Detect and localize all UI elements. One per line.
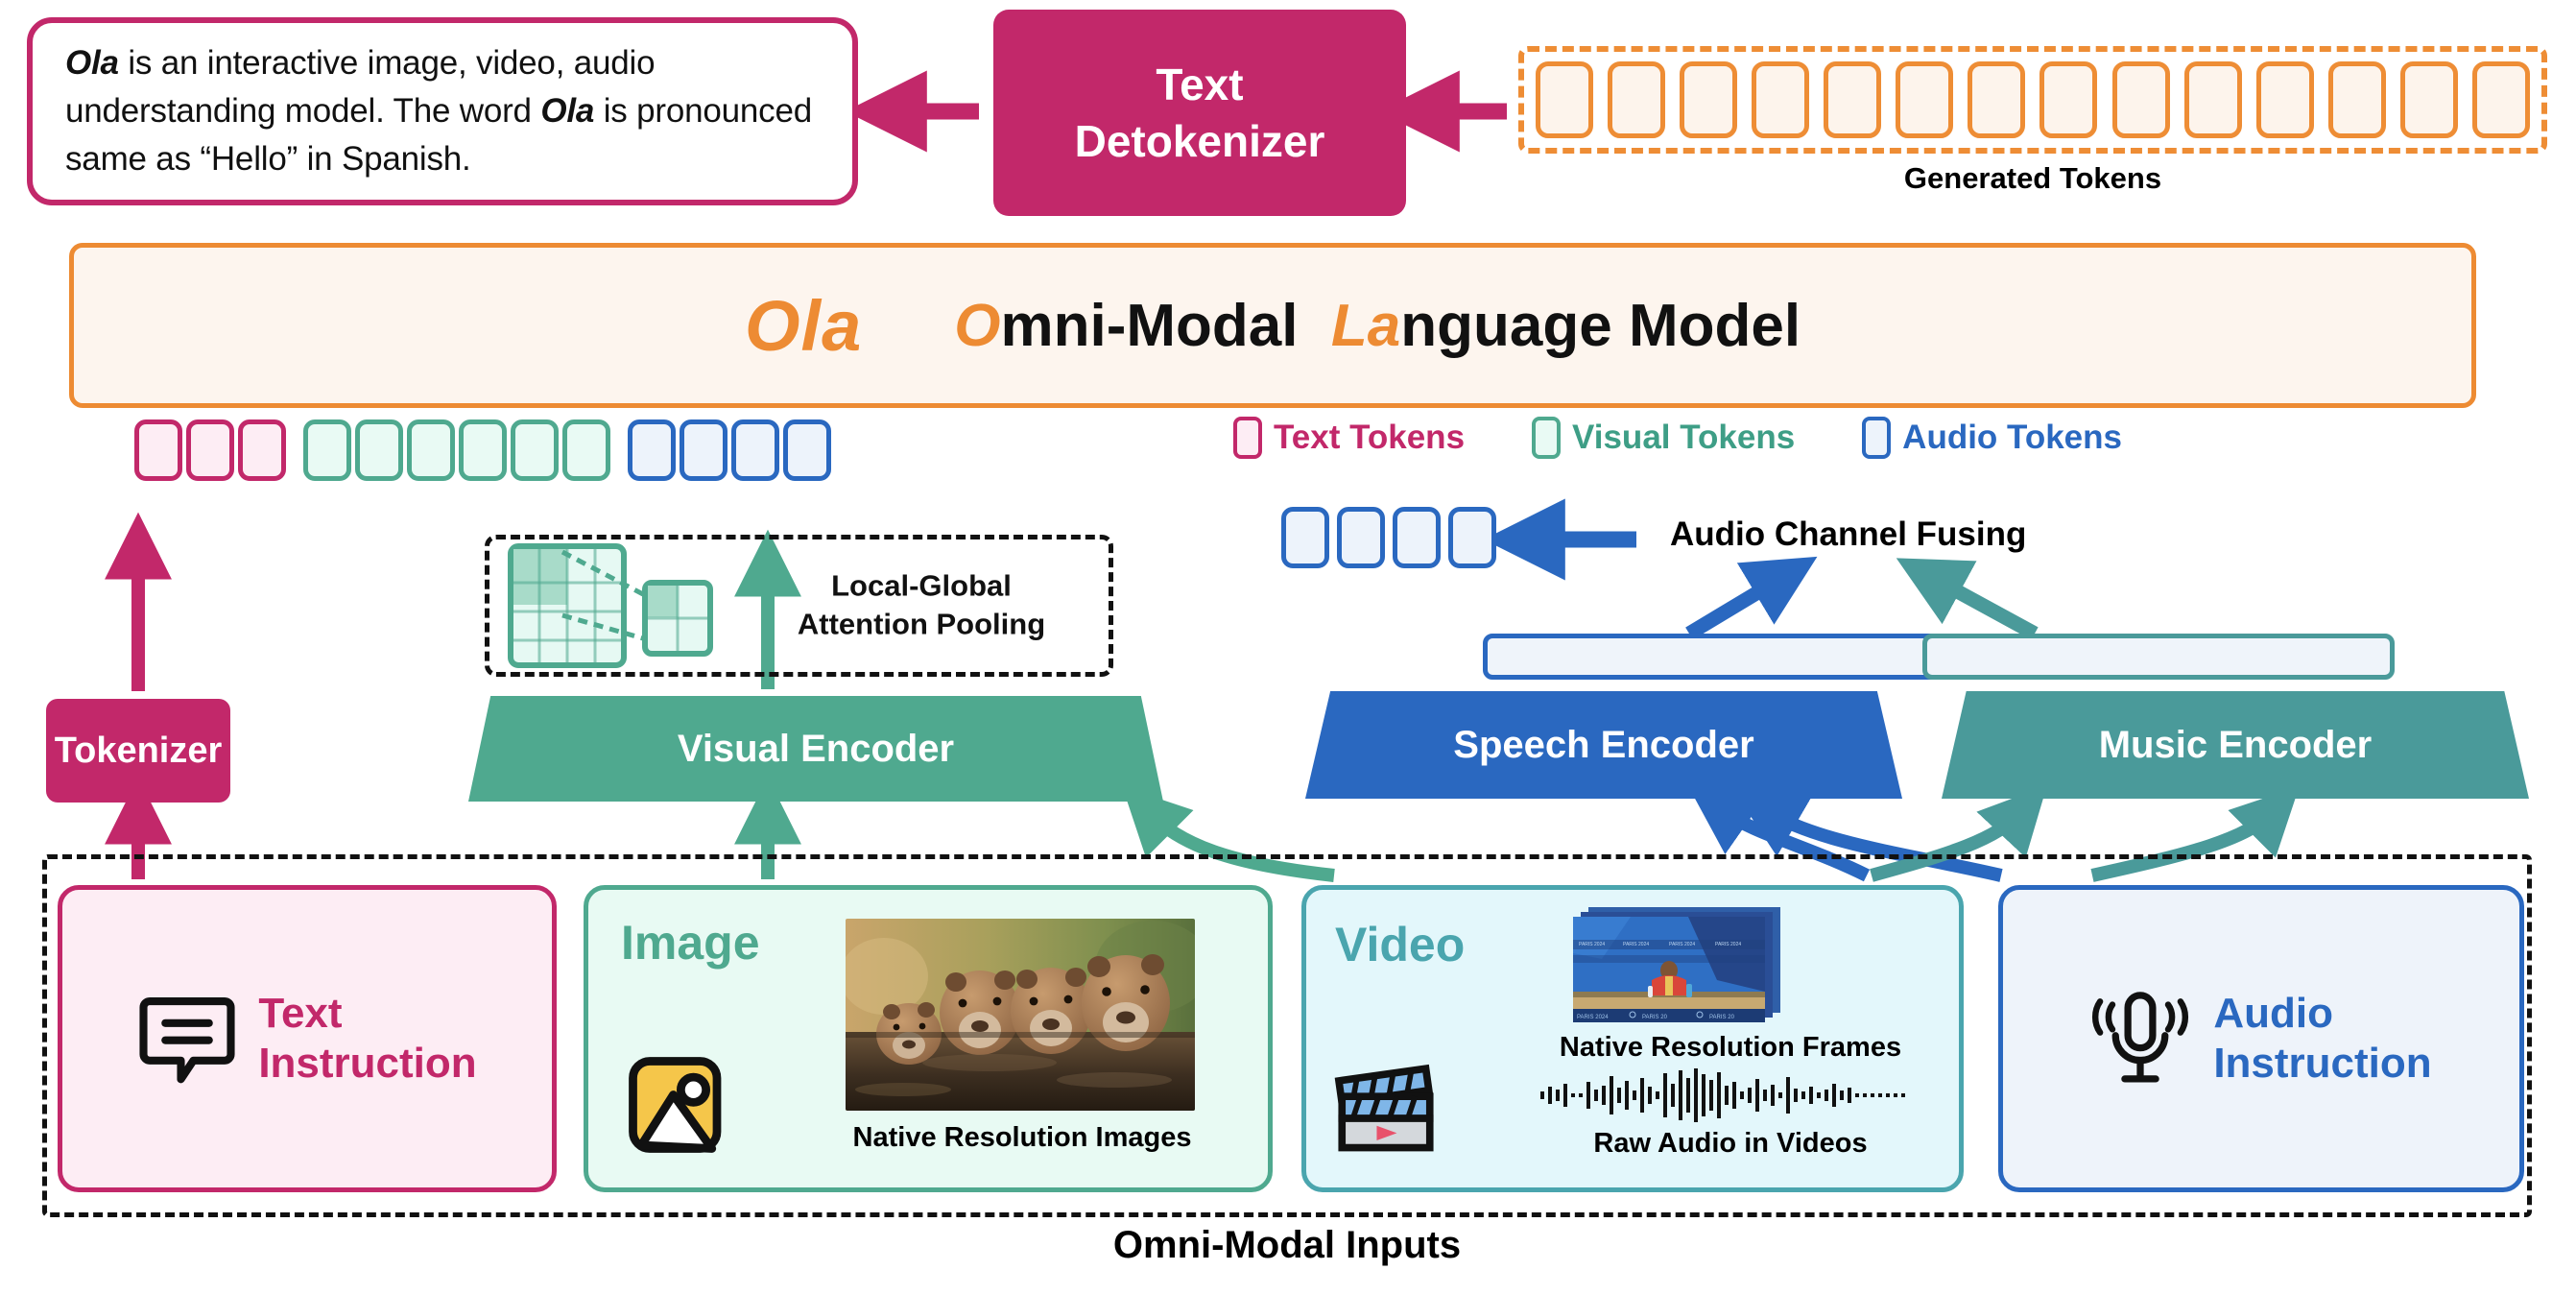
- fused-audio-token: [1393, 507, 1441, 568]
- visual-token: [562, 419, 610, 481]
- fused-audio-tokens-group: [1281, 507, 1500, 568]
- audio-token: [783, 419, 831, 481]
- audio-token: [628, 419, 676, 481]
- banner-la-rest: nguage Model: [1400, 293, 1801, 359]
- text-instruction-line2: Instruction: [258, 1039, 476, 1089]
- audio-waveform-icon: [1538, 1068, 1922, 1122]
- video-frames-caption: Native Resolution Frames: [1519, 1032, 1942, 1064]
- audio-channel-fusing-label: Audio Channel Fusing: [1670, 515, 2026, 554]
- visual-token: [407, 419, 455, 481]
- video-input-card[interactable]: Video: [1301, 885, 1964, 1192]
- audio-token: [731, 419, 779, 481]
- visual-token: [511, 419, 559, 481]
- generated-token: [1536, 61, 1593, 138]
- chat-bubble-icon: [137, 989, 237, 1089]
- video-audio-caption: Raw Audio in Videos: [1519, 1128, 1942, 1160]
- answer-line2-b: is: [594, 92, 627, 130]
- generated-token: [2472, 61, 2530, 138]
- audio-token-swatch-icon: [1862, 417, 1891, 459]
- local-global-attention-pooling-box: Local-Global Attention Pooling: [485, 535, 1113, 677]
- attention-pooling-grid-icon: [503, 539, 781, 673]
- visual-token: [459, 419, 507, 481]
- music-encoder-block: Music Encoder: [1942, 691, 2529, 799]
- svg-text:PARIS 2024: PARIS 2024: [1577, 1015, 1609, 1020]
- text-instruction-card[interactable]: Text Instruction: [58, 885, 557, 1192]
- visual-token: [355, 419, 403, 481]
- legend-item-text-tokens: Text Tokens: [1233, 417, 1465, 459]
- fused-audio-token: [1281, 507, 1329, 568]
- generated-token: [2256, 61, 2314, 138]
- generated-token: [1608, 61, 1665, 138]
- input-token-strip: [134, 419, 835, 481]
- svg-text:PARIS 2024: PARIS 2024: [1669, 942, 1695, 947]
- video-card-title: Video: [1335, 917, 1465, 972]
- generated-token: [1752, 61, 1809, 138]
- generated-token: [2112, 61, 2170, 138]
- attention-pooling-line2: Attention Pooling: [777, 606, 1065, 644]
- speech-encoder-block: Speech Encoder: [1305, 691, 1902, 799]
- visual-token-swatch-icon: [1532, 417, 1561, 459]
- banner-la-highlight: La: [1331, 293, 1400, 359]
- generated-token: [1824, 61, 1881, 138]
- audio-instruction-caption: Audio Instruction: [2213, 989, 2431, 1089]
- audio-instruction-card[interactable]: Audio Instruction: [1998, 885, 2524, 1192]
- image-card-title: Image: [621, 915, 760, 970]
- svg-text:PARIS 2024: PARIS 2024: [1579, 942, 1605, 947]
- capybara-photo: [846, 919, 1195, 1111]
- generated-token: [2184, 61, 2242, 138]
- generated-token: [1680, 61, 1737, 138]
- image-card-caption: Native Resolution Images: [830, 1122, 1214, 1154]
- ola-model-banner: Ola Omni-Modal Language Model: [69, 243, 2476, 408]
- text-token: [186, 419, 234, 481]
- clapperboard-icon: [1327, 1042, 1444, 1159]
- token-group-gap: [290, 450, 303, 451]
- omni-modal-inputs-label: Omni-Modal Inputs: [42, 1224, 2532, 1267]
- audio-instruction-line1: Audio: [2213, 989, 2431, 1039]
- picture-icon: [623, 1051, 730, 1159]
- token-legend: Text Tokens Visual Tokens Audio Tokens: [1233, 417, 2122, 459]
- microphone-icon: [2090, 983, 2190, 1094]
- audio-token: [680, 419, 727, 481]
- generated-token: [2328, 61, 2386, 138]
- visual-encoder-block: Visual Encoder: [468, 696, 1163, 802]
- image-input-card[interactable]: Image: [584, 885, 1273, 1192]
- text-token-swatch-icon: [1233, 417, 1262, 459]
- audio-instruction-line2: Instruction: [2213, 1039, 2431, 1089]
- fused-audio-token: [1448, 507, 1496, 568]
- banner-omni-rest: mni-Modal: [1000, 293, 1298, 359]
- legend-label-text: Text Tokens: [1274, 419, 1465, 457]
- legend-label-visual: Visual Tokens: [1572, 419, 1795, 457]
- svg-text:PARIS 2024: PARIS 2024: [1715, 942, 1741, 947]
- music-feature-bar: [1922, 634, 2395, 680]
- answer-ola-1: Ola: [65, 44, 119, 82]
- detokenizer-line1: Text: [1075, 57, 1325, 113]
- generated-token: [2039, 61, 2097, 138]
- text-token: [238, 419, 286, 481]
- speech-feature-bar: [1483, 634, 1963, 680]
- banner-o-highlight: O: [954, 293, 1000, 359]
- attention-pooling-line1: Local-Global: [777, 567, 1065, 606]
- text-instruction-caption: Text Instruction: [258, 989, 476, 1089]
- text-token: [134, 419, 182, 481]
- fused-audio-token: [1337, 507, 1385, 568]
- generated-tokens-label: Generated Tokens: [1518, 161, 2547, 196]
- video-frames-stack: PARIS 2024PARIS 2024 PARIS 2024PARIS 202…: [1573, 907, 1782, 1024]
- ola-logo-text: Ola: [745, 285, 862, 367]
- banner-subtitle: Omni-Modal Language Model: [954, 292, 1801, 360]
- tokenizer-block: Tokenizer: [46, 699, 230, 803]
- generated-token: [1896, 61, 1953, 138]
- text-instruction-line1: Text: [258, 989, 476, 1039]
- legend-label-audio: Audio Tokens: [1902, 419, 2122, 457]
- svg-text:PARIS 2024: PARIS 2024: [1623, 942, 1649, 947]
- legend-item-visual-tokens: Visual Tokens: [1532, 417, 1795, 459]
- svg-text:PARIS 20: PARIS 20: [1709, 1015, 1735, 1020]
- attention-pooling-label: Local-Global Attention Pooling: [777, 567, 1065, 645]
- model-answer-text: Ola is an interactive image, video, audi…: [65, 39, 820, 182]
- generated-token: [1968, 61, 2025, 138]
- generated-token: [2400, 61, 2458, 138]
- token-group-gap: [614, 450, 628, 451]
- detokenizer-line2: Detokenizer: [1075, 113, 1325, 170]
- answer-line2-a: understanding model. The word: [65, 92, 540, 130]
- svg-text:PARIS 20: PARIS 20: [1642, 1015, 1668, 1020]
- legend-item-audio-tokens: Audio Tokens: [1862, 417, 2122, 459]
- answer-ola-2: Ola: [540, 92, 594, 130]
- answer-line1-rest: is an interactive image, video, audio: [119, 44, 656, 82]
- generated-tokens-group: [1518, 46, 2547, 154]
- model-answer-bubble: Ola is an interactive image, video, audi…: [27, 17, 858, 205]
- visual-token: [303, 419, 351, 481]
- text-detokenizer-block: Text Detokenizer: [993, 10, 1406, 216]
